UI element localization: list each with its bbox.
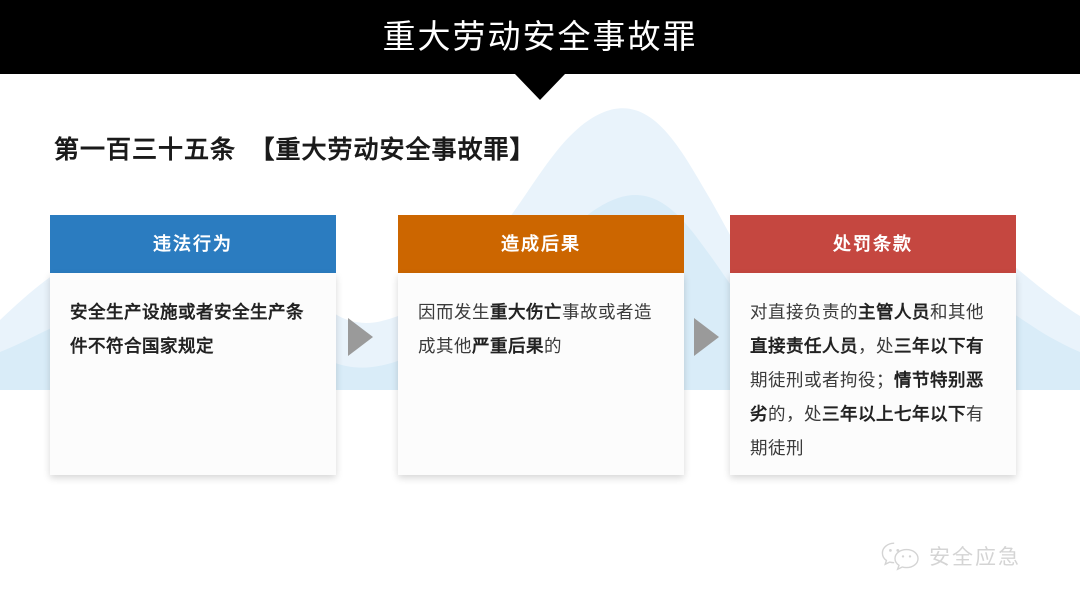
flow-card-header: 造成后果 <box>398 215 684 273</box>
right-triangle-arrow-icon <box>694 318 719 356</box>
flow-card-body: 因而发生重大伤亡事故或者造成其他严重后果的 <box>398 273 684 475</box>
right-triangle-arrow-icon <box>348 318 373 356</box>
title-pointer-triangle-icon <box>515 74 565 100</box>
flow-card-header: 处罚条款 <box>730 215 1016 273</box>
flow-card-body: 对直接负责的主管人员和其他直接责任人员，处三年以下有期徒刑或者拘役；情节特别恶劣… <box>730 273 1016 475</box>
flow-card-body: 安全生产设施或者安全生产条件不符合国家规定 <box>50 273 336 475</box>
flow-card-header: 违法行为 <box>50 215 336 273</box>
watermark-label: 安全应急 <box>929 541 1021 571</box>
article-heading: 第一百三十五条 【重大劳动安全事故罪】 <box>54 130 536 166</box>
flow-card-violation: 违法行为 安全生产设施或者安全生产条件不符合国家规定 <box>50 215 336 475</box>
wechat-logo-icon <box>880 540 920 572</box>
page-title: 重大劳动安全事故罪 <box>0 0 1080 74</box>
watermark: 安全应急 <box>880 540 1021 572</box>
flow-card-consequence: 造成后果 因而发生重大伤亡事故或者造成其他严重后果的 <box>398 215 684 475</box>
flow-card-penalty: 处罚条款 对直接负责的主管人员和其他直接责任人员，处三年以下有期徒刑或者拘役；情… <box>730 215 1016 475</box>
title-bar: 重大劳动安全事故罪 <box>0 0 1080 74</box>
